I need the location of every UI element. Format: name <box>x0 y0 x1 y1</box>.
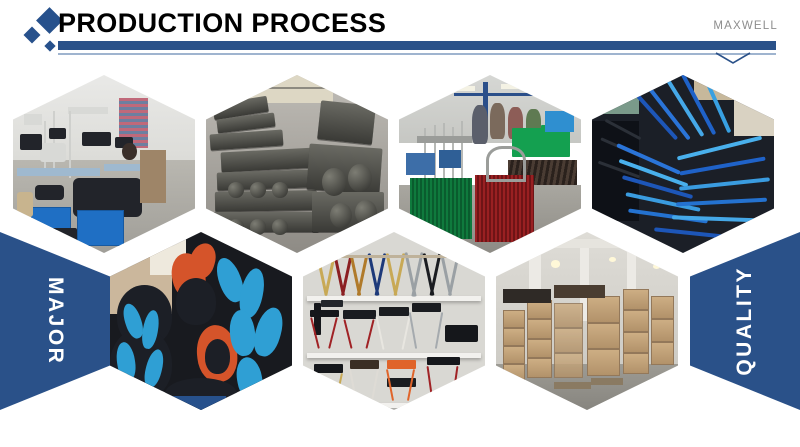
hex-photo-sewing-workshop[interactable] <box>13 75 195 253</box>
diamond-medium-icon <box>24 27 41 44</box>
page-title: PRODUCTION PROCESS <box>58 8 386 39</box>
hex-gallery: MAJOR QUALITY <box>0 60 800 447</box>
hex-photo-warehouse[interactable] <box>496 232 678 410</box>
brand-label: MAXWELL <box>713 20 778 32</box>
photo-fabric-bags <box>110 232 292 410</box>
hex-photo-blue-tubes[interactable] <box>592 75 774 253</box>
production-process-banner: PRODUCTION PROCESS MAXWELL MAJOR QUALITY <box>0 0 800 447</box>
photo-folding-stools <box>303 232 485 410</box>
diamond-decoration <box>16 9 64 57</box>
side-panel-quality: QUALITY <box>690 232 800 410</box>
header-accent-bar <box>58 41 776 50</box>
side-panel-major-label: MAJOR <box>43 277 67 365</box>
photo-blue-tubes <box>592 75 774 253</box>
side-panel-major: MAJOR <box>0 232 110 410</box>
hex-photo-assembly-line[interactable] <box>399 75 581 253</box>
hex-photo-fabric-bags[interactable] <box>110 232 292 410</box>
photo-warehouse <box>496 232 678 410</box>
photo-assembly-line <box>399 75 581 253</box>
header-thin-line <box>58 53 776 55</box>
side-panel-major-labelbox: MAJOR <box>0 232 110 410</box>
diamond-small-icon <box>44 40 55 51</box>
side-panel-quality-label: QUALITY <box>733 266 757 376</box>
photo-sewing-workshop <box>13 75 195 253</box>
side-panel-quality-labelbox: QUALITY <box>690 232 800 410</box>
photo-metal-tubes <box>206 75 388 253</box>
hex-photo-metal-tubes[interactable] <box>206 75 388 253</box>
hex-photo-folding-stools[interactable] <box>303 232 485 410</box>
